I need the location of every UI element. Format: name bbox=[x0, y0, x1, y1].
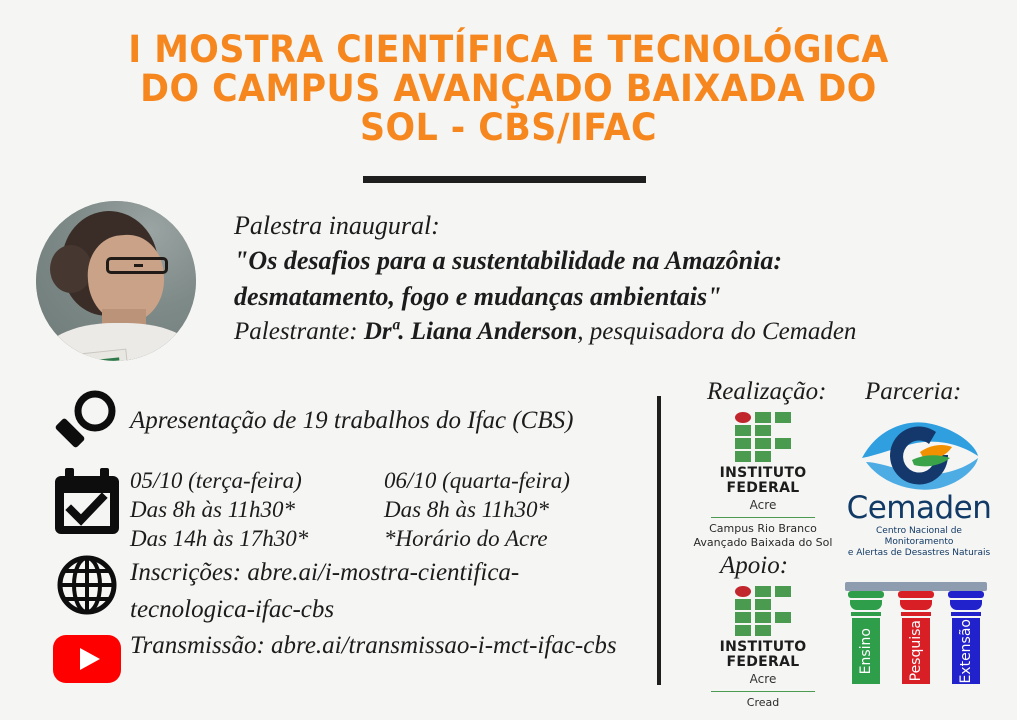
lecture-label: Palestra inaugural: bbox=[234, 209, 994, 243]
speaker-name: Drª. Liana Anderson bbox=[364, 318, 577, 345]
if-separator bbox=[711, 517, 815, 518]
avatar-glasses bbox=[106, 257, 168, 274]
lecture-title-line-2: desmatamento, fogo e mudanças ambientais… bbox=[234, 279, 994, 315]
pillar-pesquisa: Pesquisa bbox=[898, 591, 934, 687]
date-1-label: 05/10 (terça-feira) bbox=[130, 466, 352, 495]
dates-columns: 05/10 (terça-feira) Das 8h às 11h30* Das… bbox=[130, 466, 570, 553]
pillar-pesquisa-label: Pesquisa bbox=[908, 620, 924, 681]
realizacao-label: Realização: bbox=[707, 378, 826, 406]
pillar-ensino: Ensino bbox=[848, 591, 884, 687]
title-divider bbox=[363, 176, 646, 183]
pillar-ensino-label: Ensino bbox=[858, 628, 874, 674]
pillar-extensao: Extensão bbox=[948, 591, 984, 687]
magnifier-icon bbox=[44, 388, 130, 460]
parceria-label: Parceria: bbox=[865, 378, 961, 406]
cemaden-eye-icon bbox=[856, 418, 982, 492]
date-1-time-1: Das 8h às 11h30* bbox=[130, 495, 352, 524]
cemaden-logo: Cemaden Centro Nacional de Monitoramento… bbox=[845, 418, 993, 559]
dates-row: 05/10 (terça-feira) Das 8h às 11h30* Das… bbox=[44, 466, 654, 553]
stream-text[interactable]: Transmissão: abre.ai/transmissao-i-mct-i… bbox=[130, 627, 630, 664]
date-1-time-2: Das 14h às 17h30* bbox=[130, 524, 352, 553]
lecture-title-line-1: "Os desafios para a sustentabilidade na … bbox=[234, 243, 994, 279]
works-text: Apresentação de 19 trabalhos do Ifac (CB… bbox=[130, 388, 573, 439]
if-name-line-1: INSTITUTO bbox=[688, 466, 838, 481]
three-pillars-graphic: Ensino Pesquisa Extensão bbox=[845, 582, 987, 687]
speaker-avatar bbox=[36, 201, 196, 361]
speaker-affiliation: , pesquisadora do Cemaden bbox=[577, 318, 856, 345]
cemaden-tagline-1: Centro Nacional de Monitoramento bbox=[845, 526, 993, 548]
cemaden-wordmark: Cemaden bbox=[845, 493, 993, 524]
youtube-icon[interactable] bbox=[44, 627, 130, 683]
event-poster: I MOSTRA CIENTÍFICA E TECNOLÓGICA DO CAM… bbox=[0, 0, 1017, 720]
pillar-extensao-label: Extensão bbox=[958, 619, 974, 684]
works-row: Apresentação de 19 trabalhos do Ifac (CB… bbox=[44, 388, 654, 460]
calendar-check-icon bbox=[44, 466, 130, 536]
date-2-time-1: Das 8h às 11h30* bbox=[384, 495, 570, 524]
instituto-federal-logo-realizacao: INSTITUTO FEDERAL Acre Campus Rio Branco… bbox=[688, 412, 838, 550]
page-title: I MOSTRA CIENTÍFICA E TECNOLÓGICA DO CAM… bbox=[0, 30, 1017, 147]
if-apoio-name-line-2: FEDERAL bbox=[688, 655, 838, 670]
if-apoio-unit: Acre bbox=[688, 672, 838, 686]
lecture-block: Palestra inaugural: "Os desafios para a … bbox=[234, 209, 994, 349]
title-line-2: DO CAMPUS AVANÇADO BAIXADA DO bbox=[31, 69, 987, 108]
if-name-line-2: FEDERAL bbox=[688, 481, 838, 496]
date-2-note: *Horário do Acre bbox=[384, 524, 570, 553]
if-campus-line-2: Avançado Baixada do Sol bbox=[688, 536, 838, 550]
title-line-1: I MOSTRA CIENTÍFICA E TECNOLÓGICA bbox=[31, 30, 987, 69]
if-grid-icon-apoio bbox=[735, 586, 791, 634]
speaker-prefix: Palestrante: bbox=[234, 318, 364, 345]
if-campus-line-1: Campus Rio Branco bbox=[688, 522, 838, 536]
if-apoio-separator bbox=[711, 691, 815, 692]
if-apoio-campus: Cread bbox=[688, 696, 838, 710]
pillars-beam bbox=[845, 582, 987, 591]
apoio-label: Apoio: bbox=[720, 552, 788, 580]
signup-row[interactable]: Inscrições: abre.ai/i-mostra-cientifica-… bbox=[44, 554, 659, 628]
if-unit: Acre bbox=[688, 498, 838, 512]
instituto-federal-logo-apoio: INSTITUTO FEDERAL Acre Cread bbox=[688, 586, 838, 710]
title-line-3: SOL - CBS/IFAC bbox=[31, 108, 987, 147]
signup-text[interactable]: Inscrições: abre.ai/i-mostra-cientifica-… bbox=[130, 554, 630, 628]
if-grid-icon bbox=[735, 412, 791, 460]
cemaden-tagline-2: e Alertas de Desastres Naturais bbox=[845, 548, 993, 559]
date-column-2: 06/10 (quarta-feira) Das 8h às 11h30* *H… bbox=[384, 466, 570, 553]
avatar-hair-bun bbox=[50, 245, 92, 293]
globe-icon bbox=[44, 554, 130, 616]
date-2-label: 06/10 (quarta-feira) bbox=[384, 466, 570, 495]
stream-row[interactable]: Transmissão: abre.ai/transmissao-i-mct-i… bbox=[44, 627, 659, 683]
speaker-line: Palestrante: Drª. Liana Anderson, pesqui… bbox=[234, 315, 994, 349]
if-apoio-name-line-1: INSTITUTO bbox=[688, 640, 838, 655]
date-column-1: 05/10 (terça-feira) Das 8h às 11h30* Das… bbox=[130, 466, 352, 553]
